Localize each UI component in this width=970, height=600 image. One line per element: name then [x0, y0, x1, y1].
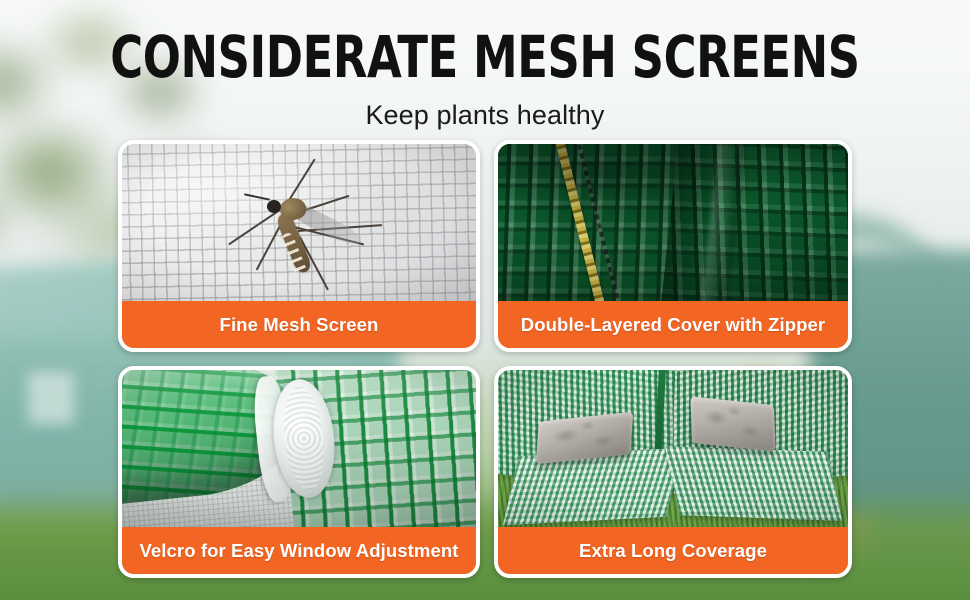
feature-card-velcro[interactable]: Velcro for Easy Window Adjustment	[118, 366, 480, 578]
roll-shading	[122, 370, 476, 527]
promo-banner: CONSIDERATE MESH SCREENS Keep plants hea…	[0, 0, 970, 600]
header: CONSIDERATE MESH SCREENS Keep plants hea…	[0, 0, 970, 140]
tarp-flap-right	[665, 446, 842, 521]
mosquito-proboscis	[244, 193, 270, 200]
mosquito-on-white-mesh-photo	[122, 144, 476, 301]
card-caption-velcro: Velcro for Easy Window Adjustment	[122, 527, 476, 574]
card-caption-double-layer: Double-Layered Cover with Zipper	[498, 301, 848, 348]
feature-card-coverage[interactable]: Extra Long Coverage	[494, 366, 852, 578]
page-title: CONSIDERATE MESH SCREENS	[68, 0, 902, 86]
mosquito-illustration	[242, 174, 412, 294]
feature-card-fine-mesh[interactable]: Fine Mesh Screen	[118, 140, 480, 352]
tarp-corner-scene	[498, 370, 848, 527]
rolled-mesh-velcro-photo	[122, 370, 476, 527]
mosquito-head	[267, 200, 281, 213]
tarp-flap-left	[503, 447, 682, 524]
rolled-mesh-scene	[122, 370, 476, 527]
stone-weight	[690, 397, 775, 452]
card-caption-fine-mesh: Fine Mesh Screen	[122, 301, 476, 348]
green-tarp-zipper-photo	[498, 144, 848, 301]
page-subtitle: Keep plants healthy	[0, 86, 970, 131]
card-caption-coverage: Extra Long Coverage	[498, 527, 848, 574]
feature-card-double-layer[interactable]: Double-Layered Cover with Zipper	[494, 140, 852, 352]
tarp-shading	[498, 144, 848, 301]
tarp-corner-weights-photo	[498, 370, 848, 527]
